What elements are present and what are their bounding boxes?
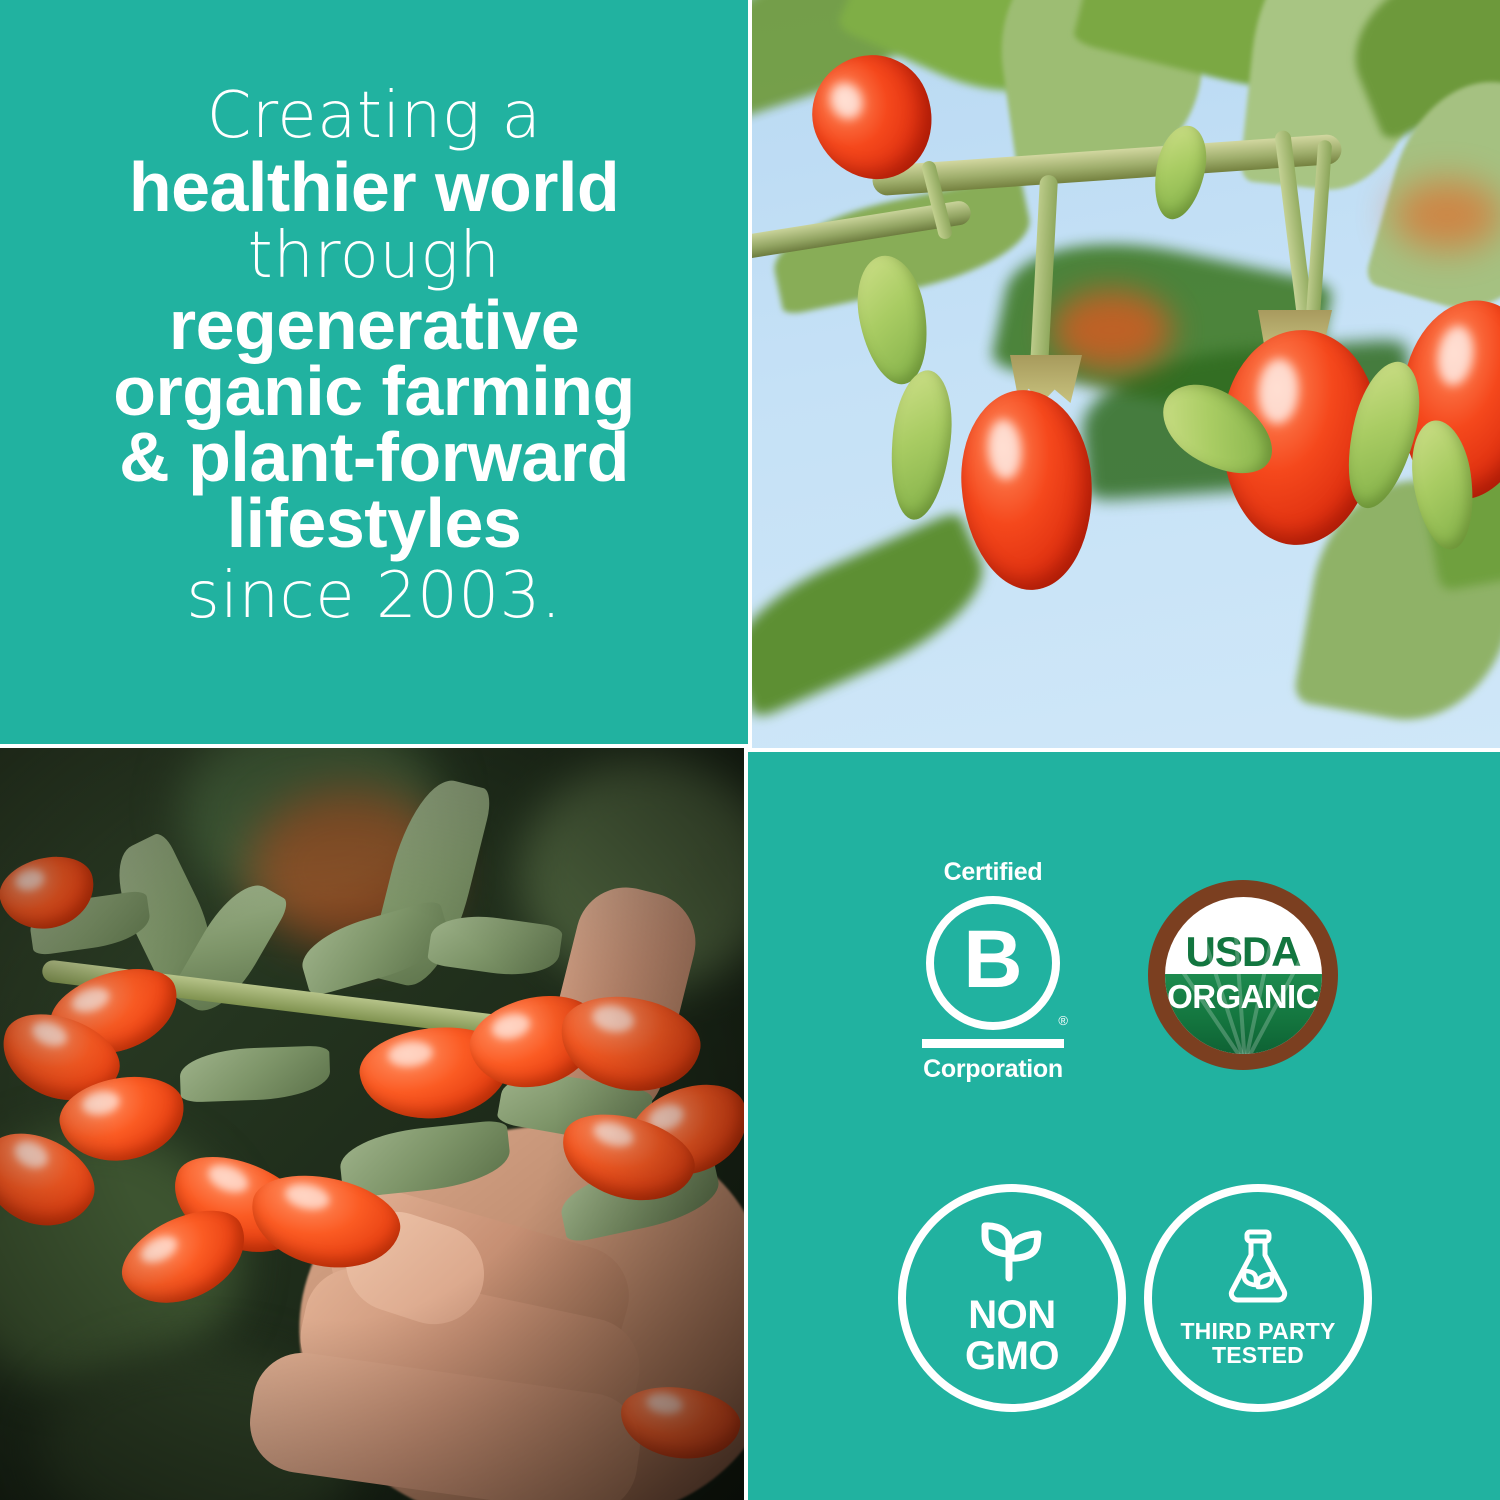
- badge-third-party-tested[interactable]: THIRD PARTY TESTED: [1144, 1184, 1372, 1412]
- blurred-berry: [1392, 180, 1500, 250]
- headline-panel: Creating a healthier world through regen…: [0, 0, 748, 744]
- headline-line-2: healthier world: [0, 152, 748, 222]
- headline-line-4: regenerative: [0, 290, 748, 360]
- headline-line-7: lifestyles: [0, 488, 748, 558]
- third-party-tested-label: THIRD PARTY TESTED: [1180, 1320, 1335, 1367]
- badge-grid: Certified B ® Corporation USDA O: [748, 752, 1500, 1500]
- b-corp-divider: [922, 1039, 1064, 1048]
- badge-b-corporation[interactable]: Certified B ® Corporation: [918, 860, 1068, 1092]
- usda-organic-seal-icon: USDA ORGANIC: [1165, 897, 1322, 1054]
- usda-label: USDA: [1185, 933, 1300, 972]
- organic-label: ORGANIC: [1167, 978, 1319, 1016]
- non-gmo-label: NON GMO: [965, 1295, 1059, 1377]
- marketing-infographic: Creating a healthier world through regen…: [0, 0, 1500, 1500]
- b-corp-bottom-label: Corporation: [923, 1057, 1063, 1082]
- b-corp-icon: B ®: [926, 896, 1060, 1030]
- badge-non-gmo[interactable]: NON GMO: [898, 1184, 1126, 1412]
- headline-line-8: since 2003.: [0, 564, 748, 628]
- harvest-hand-photo: [0, 748, 744, 1500]
- usda-bottom-half: ORGANIC: [1165, 974, 1322, 1054]
- photo-vignette: [0, 748, 744, 1500]
- headline-line-5: organic farming: [0, 356, 748, 426]
- headline-line-1: Creating a: [0, 84, 748, 148]
- third-party-line-1: THIRD PARTY: [1180, 1320, 1335, 1343]
- non-gmo-line-2: GMO: [965, 1336, 1059, 1377]
- flask-sprout-icon: [1225, 1229, 1291, 1310]
- goji-branch-photo: [752, 0, 1500, 748]
- b-corp-top-label: Certified: [944, 860, 1043, 885]
- third-party-line-2: TESTED: [1180, 1344, 1335, 1367]
- sprout-icon: [977, 1220, 1047, 1287]
- non-gmo-line-1: NON: [965, 1295, 1059, 1336]
- headline-line-6: & plant-forward: [0, 422, 748, 492]
- headline-line-3: through: [0, 224, 748, 288]
- headline-block: Creating a healthier world through regen…: [0, 84, 748, 628]
- registered-trademark-icon: ®: [1058, 1013, 1068, 1028]
- b-corp-letter: B: [963, 919, 1022, 1001]
- badge-usda-organic[interactable]: USDA ORGANIC: [1148, 880, 1338, 1070]
